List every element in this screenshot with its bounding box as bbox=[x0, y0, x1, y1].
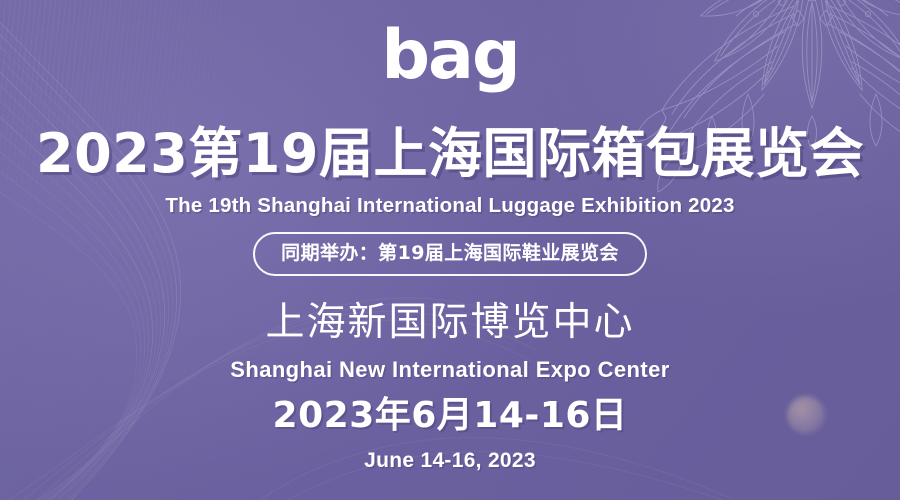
page-title-en: The 19th Shanghai International Luggage … bbox=[0, 193, 900, 219]
event-date-en: June 14-16, 2023 bbox=[0, 447, 900, 474]
bag-logo: bag bbox=[0, 22, 900, 90]
exhibition-banner: bag 2023第19届上海国际箱包展览会 The 19th Shanghai … bbox=[0, 0, 900, 500]
concurrent-event-row: 同期举办：第19届上海国际鞋业展览会 bbox=[0, 232, 900, 276]
venue-name-cn: 上海新国际博览中心 bbox=[0, 299, 900, 347]
banner-content: bag 2023第19届上海国际箱包展览会 The 19th Shanghai … bbox=[0, 0, 900, 500]
event-date-cn: 2023年6月14-16日 bbox=[0, 394, 900, 438]
concurrent-event-badge: 同期举办：第19届上海国际鞋业展览会 bbox=[253, 232, 647, 276]
page-title-cn: 2023第19届上海国际箱包展览会 bbox=[0, 123, 900, 185]
venue-name-en: Shanghai New International Expo Center bbox=[0, 356, 900, 384]
